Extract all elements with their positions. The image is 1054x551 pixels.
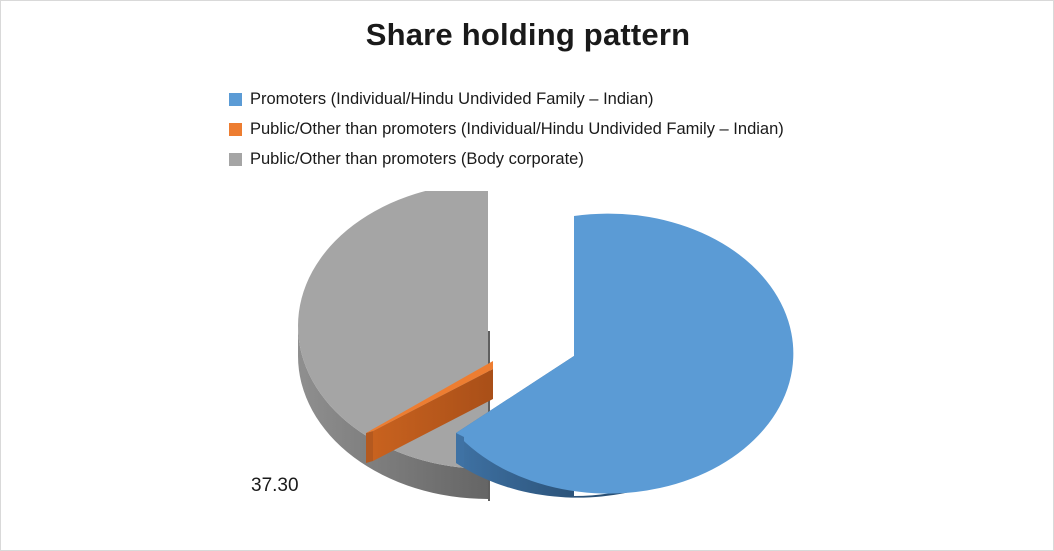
data-label-body-corporate: 37.30 bbox=[251, 475, 299, 497]
legend-swatch-public-individual-icon bbox=[229, 123, 242, 136]
plot-area: 37.30 60.42 2.28 bbox=[1, 191, 1054, 551]
legend-item-public-body-corporate[interactable]: Public/Other than promoters (Body corpor… bbox=[229, 144, 989, 174]
legend-swatch-promoters-icon bbox=[229, 93, 242, 106]
legend-label-promoters: Promoters (Individual/Hindu Undivided Fa… bbox=[250, 90, 654, 109]
chart-title: Share holding pattern bbox=[1, 17, 1054, 53]
pie-slice-promoters[interactable] bbox=[456, 214, 793, 498]
pie-slice-public-individual-endcap bbox=[366, 431, 373, 463]
pie-slice-promoters-top bbox=[456, 214, 793, 494]
legend-item-promoters[interactable]: Promoters (Individual/Hindu Undivided Fa… bbox=[229, 84, 989, 114]
pie-slice-promoters-left-depth bbox=[456, 433, 464, 467]
chart-container: Share holding pattern Promoters (Individ… bbox=[0, 0, 1054, 551]
legend-label-public-individual: Public/Other than promoters (Individual/… bbox=[250, 120, 784, 139]
legend-swatch-public-body-corporate-icon bbox=[229, 153, 242, 166]
legend-label-public-body-corporate: Public/Other than promoters (Body corpor… bbox=[250, 150, 584, 169]
legend-item-public-individual[interactable]: Public/Other than promoters (Individual/… bbox=[229, 114, 989, 144]
chart-legend: Promoters (Individual/Hindu Undivided Fa… bbox=[229, 84, 989, 174]
pie-chart-graphic bbox=[1, 191, 1054, 551]
